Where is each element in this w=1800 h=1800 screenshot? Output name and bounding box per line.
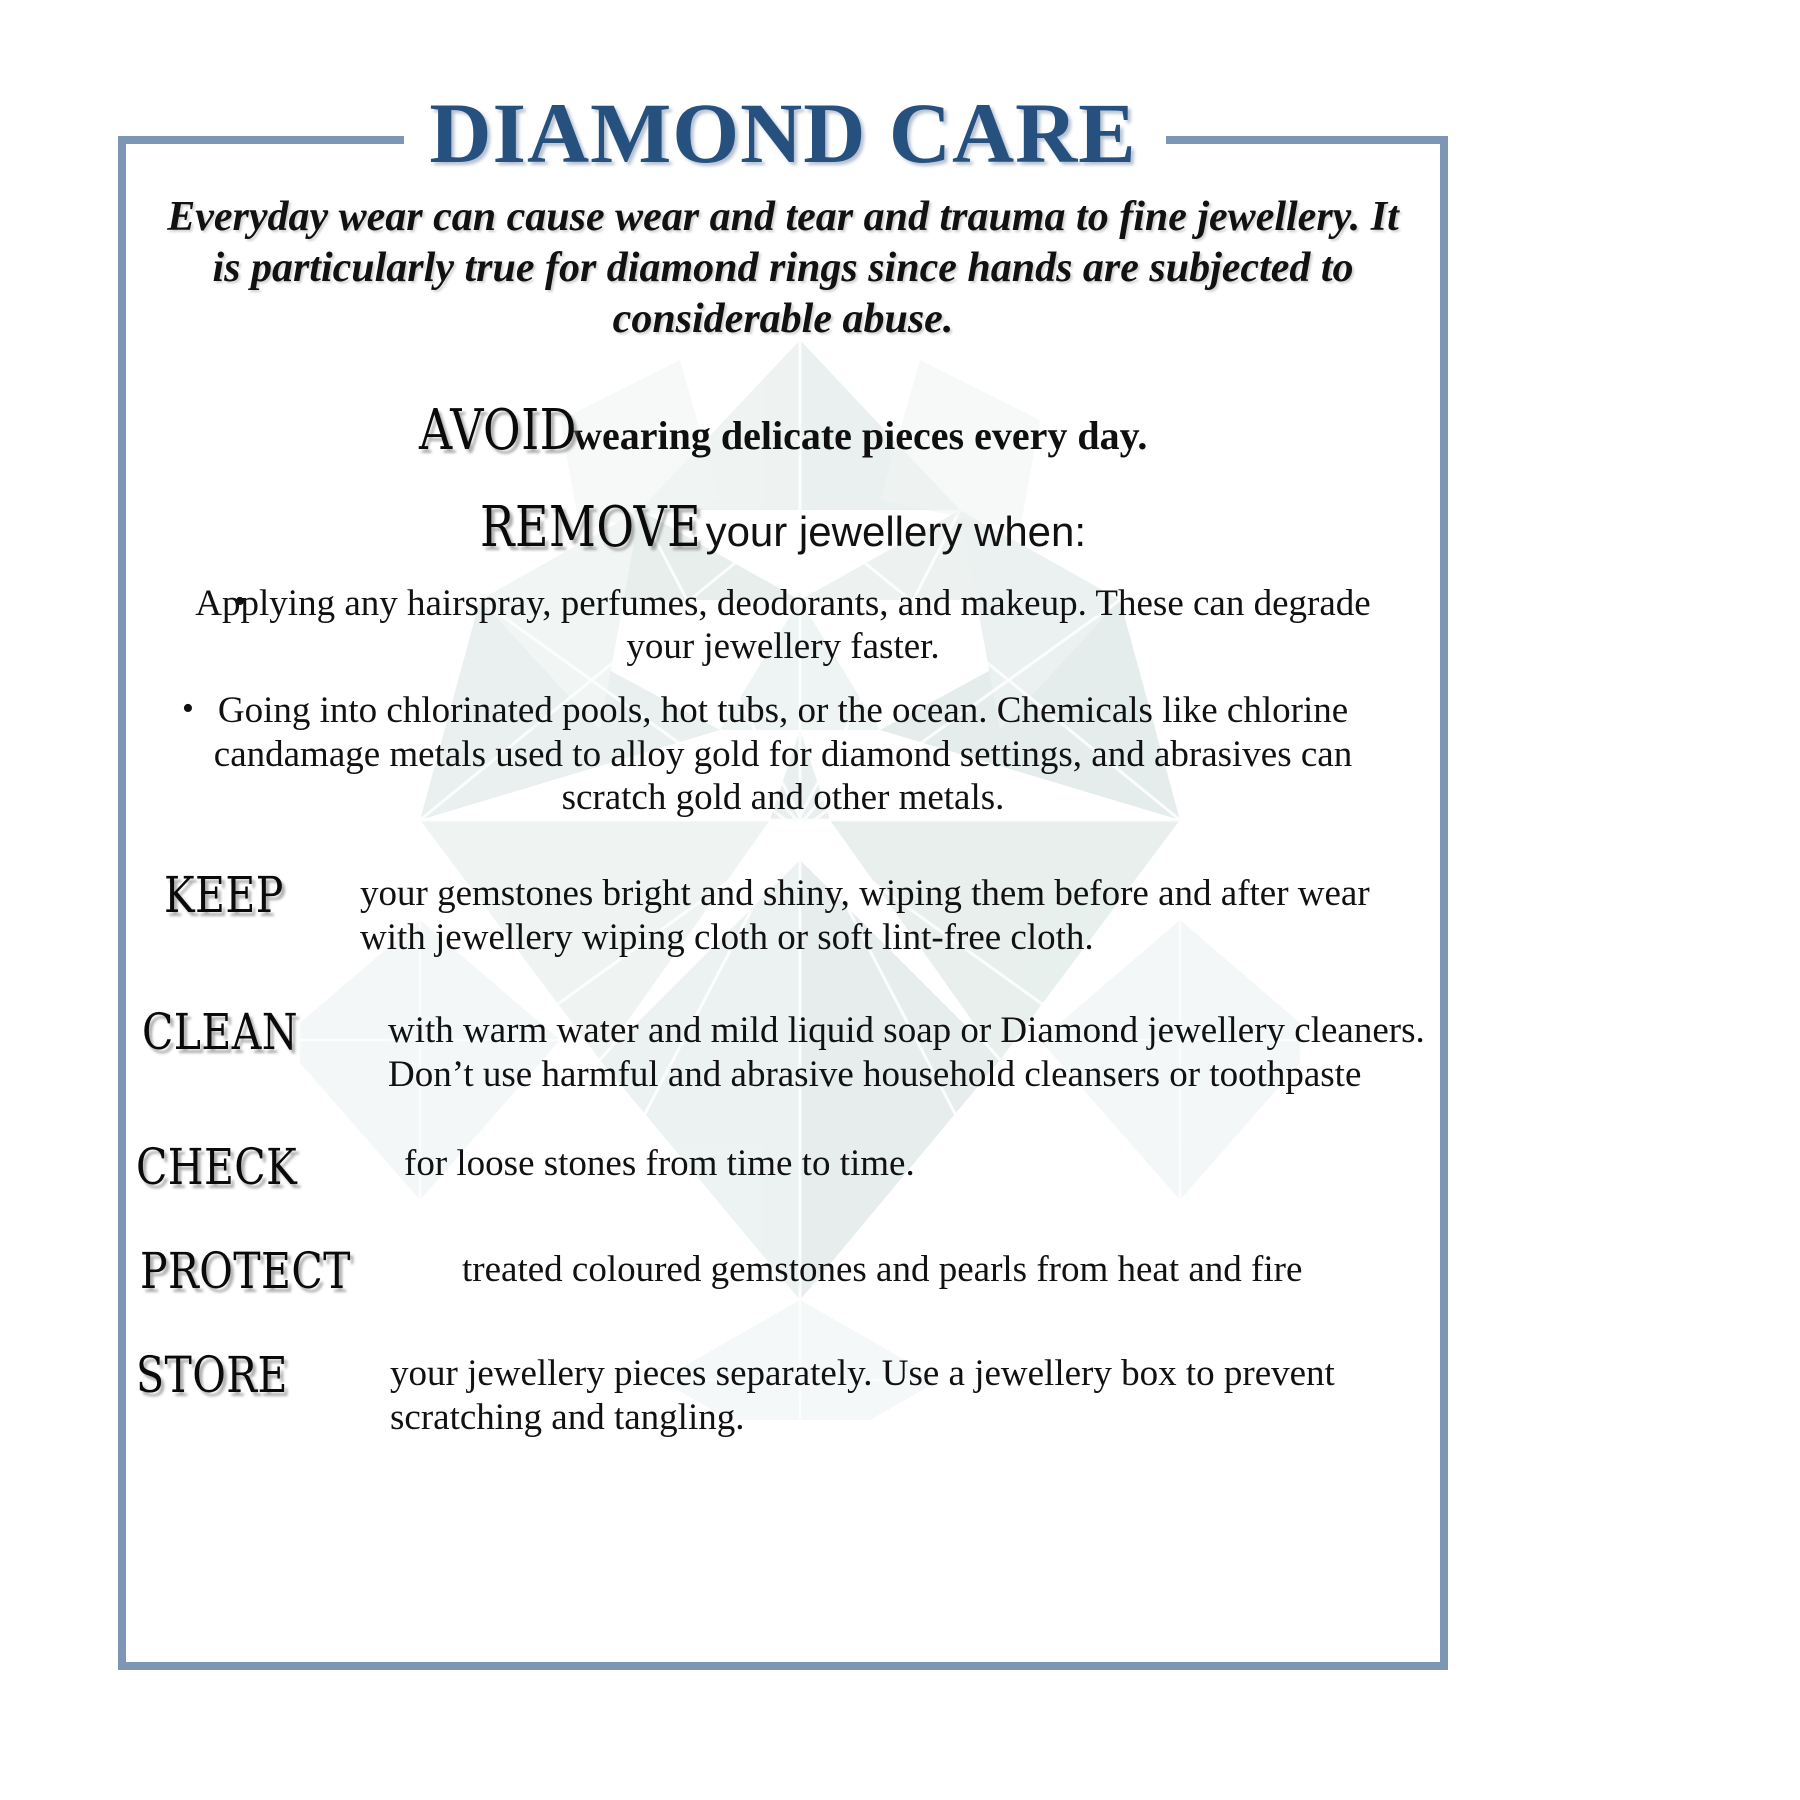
protect-text: treated coloured gemstones and pearls fr… <box>456 1242 1440 1292</box>
remove-line: REMOVEyour jewellery when: <box>126 495 1440 560</box>
section-keep: KEEP your gemstones bright and shiny, wi… <box>164 866 1440 961</box>
section-protect: PROTECT treated coloured gemstones and p… <box>140 1242 1440 1296</box>
bullet-dot-icon: • <box>234 582 246 622</box>
section-check: CHECK for loose stones from time to time… <box>136 1138 1440 1192</box>
check-keyword: CHECK <box>136 1142 297 1192</box>
section-store: STORE your jewellery pieces separately. … <box>136 1346 1440 1441</box>
page-title: DIAMOND CARE <box>126 90 1440 176</box>
clean-text: with warm water and mild liquid soap or … <box>382 1003 1440 1098</box>
remove-keyword: REMOVE <box>480 495 701 560</box>
bullet-dot-icon: • <box>182 689 194 729</box>
section-clean: CLEAN with warm water and mild liquid so… <box>142 1003 1440 1098</box>
remove-bullet-list: • Applying any hairspray, perfumes, deod… <box>126 582 1440 820</box>
list-item: • Going into chlorinated pools, hot tubs… <box>126 689 1440 820</box>
check-keyword-cell: CHECK <box>136 1138 398 1192</box>
protect-keyword-cell: PROTECT <box>140 1242 456 1296</box>
clean-keyword-cell: CLEAN <box>142 1003 382 1057</box>
avoid-keyword: AVOID <box>419 398 577 463</box>
frame-right-segment <box>1440 136 1448 1670</box>
intro-paragraph: Everyday wear can cause wear and tear an… <box>160 192 1406 346</box>
poster-content: DIAMOND CARE Everyday wear can cause wea… <box>126 90 1440 1440</box>
remove-text: your jewellery when: <box>706 508 1087 555</box>
frame-left-segment <box>118 136 126 1670</box>
clean-keyword: CLEAN <box>142 1007 298 1057</box>
keep-keyword-cell: KEEP <box>164 866 354 920</box>
list-item-text: Going into chlorinated pools, hot tubs, … <box>214 690 1352 818</box>
diamond-care-poster: DIAMOND CARE Everyday wear can cause wea… <box>0 0 1800 1800</box>
keep-keyword: KEEP <box>164 870 284 920</box>
check-text: for loose stones from time to time. <box>398 1142 1440 1186</box>
avoid-line: AVOIDwearing delicate pieces every day. <box>126 398 1440 463</box>
store-keyword-cell: STORE <box>136 1346 384 1400</box>
avoid-text: wearing delicate pieces every day. <box>573 413 1147 458</box>
store-text: your jewellery pieces separately. Use a … <box>384 1346 1440 1441</box>
list-item: • Applying any hairspray, perfumes, deod… <box>126 582 1440 669</box>
protect-keyword: PROTECT <box>140 1246 351 1296</box>
store-keyword: STORE <box>136 1350 288 1400</box>
frame-bottom-segment <box>118 1662 1448 1670</box>
list-item-text: Applying any hairspray, perfumes, deodor… <box>195 583 1370 668</box>
keep-text: your gemstones bright and shiny, wiping … <box>354 866 1440 961</box>
